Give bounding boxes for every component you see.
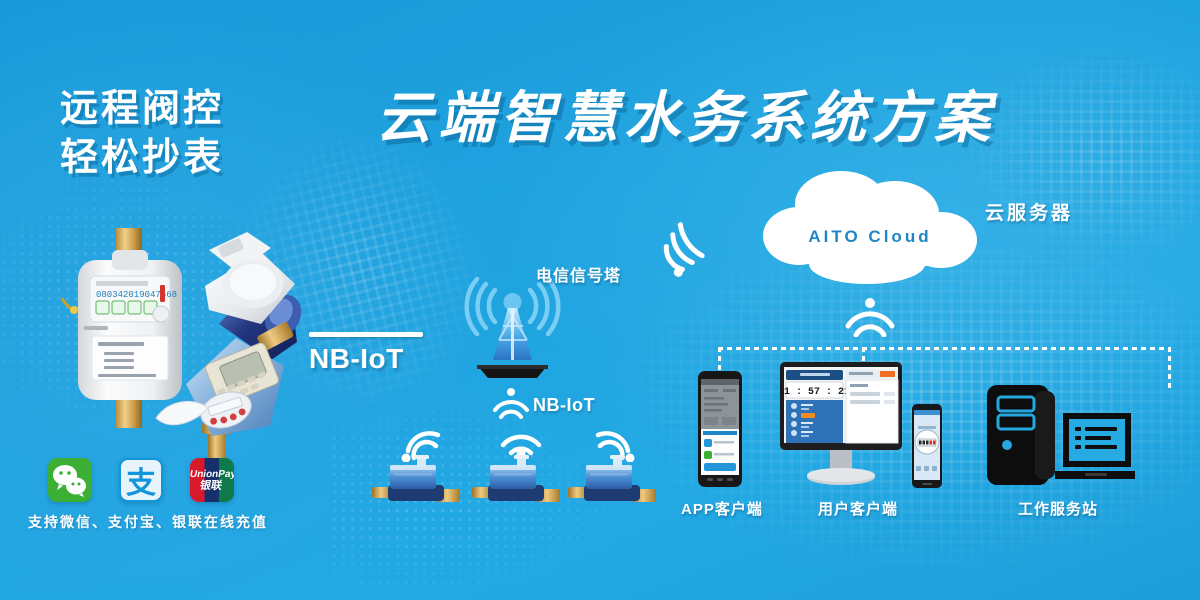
nbiot-label-large: NB-IoT bbox=[309, 332, 423, 375]
cloud-caption: 云服务器 bbox=[985, 198, 1073, 225]
product-meter-lcd bbox=[150, 322, 310, 462]
wechat-glyph bbox=[48, 458, 92, 502]
user-client-monitor: 11 : 57 : 21 bbox=[780, 362, 902, 490]
slogan: 远程阀控 轻松抄表 bbox=[60, 85, 290, 183]
field-water-meter bbox=[470, 455, 562, 515]
page-title: 云端智慧水务系统方案 bbox=[376, 88, 996, 148]
smartphone-icon bbox=[698, 371, 742, 487]
device-caption-app: APP客户端 bbox=[681, 498, 763, 519]
field-water-meter-icon bbox=[470, 455, 562, 515]
promo-banner: 远程阀控 轻松抄表 云端智慧水务系统方案 AITO Cloud 云服务器 bbox=[0, 0, 1200, 600]
device-caption-user: 用户客户端 bbox=[818, 498, 898, 519]
field-water-meter bbox=[566, 455, 658, 515]
nbiot-underline bbox=[309, 332, 423, 337]
unionpay-icon[interactable]: UnionPay 银联 bbox=[190, 458, 234, 502]
wechat-pay-icon[interactable] bbox=[48, 458, 92, 502]
slogan-line-2: 轻松抄表 bbox=[60, 134, 290, 183]
connector-line-vertical bbox=[718, 347, 721, 373]
alipay-icon[interactable]: 支 bbox=[119, 458, 163, 502]
cloud-name: AITO Cloud bbox=[755, 168, 985, 288]
tower-label: 电信信号塔 bbox=[536, 262, 621, 286]
payment-caption: 支持微信、支付宝、银联在线充值 bbox=[28, 512, 268, 532]
wifi-signal-icon bbox=[491, 386, 531, 420]
unionpay-text-top: UnionPay bbox=[190, 469, 234, 480]
background-dot-pattern bbox=[950, 40, 1200, 270]
field-water-meter-icon bbox=[370, 455, 462, 515]
connector-line-vertical bbox=[1168, 347, 1171, 389]
water-meter-lcd-icon bbox=[150, 322, 310, 462]
nbiot-label-small: NB-IoT bbox=[533, 395, 595, 416]
nbiot-label-text: NB-IoT bbox=[309, 343, 423, 375]
slogan-line-1: 远程阀控 bbox=[60, 85, 290, 134]
monitor-clock: 11 : 57 : 21 bbox=[780, 387, 850, 398]
device-caption-workstation: 工作服务站 bbox=[1018, 498, 1098, 519]
handheld-reader bbox=[912, 404, 942, 488]
payment-methods: 支 UnionPay 银联 bbox=[48, 458, 234, 502]
wifi-signal-icon bbox=[843, 295, 897, 337]
field-water-meter-icon bbox=[566, 455, 658, 515]
server-workstation-icon bbox=[985, 383, 1135, 488]
alipay-glyph: 支 bbox=[121, 460, 161, 500]
wifi-signal-icon bbox=[651, 210, 724, 281]
desktop-monitor-icon: 11 : 57 : 21 bbox=[780, 362, 902, 490]
workstation-graphic bbox=[985, 383, 1135, 488]
handheld-meter-app-icon bbox=[912, 404, 942, 488]
wifi-signal-icon bbox=[498, 424, 544, 458]
cloud-server-graphic: AITO Cloud bbox=[755, 168, 985, 288]
app-client-phone bbox=[698, 371, 742, 487]
connector-line-horizontal bbox=[718, 347, 1170, 350]
unionpay-text-bottom: 银联 bbox=[199, 480, 223, 492]
field-water-meter bbox=[370, 455, 462, 515]
